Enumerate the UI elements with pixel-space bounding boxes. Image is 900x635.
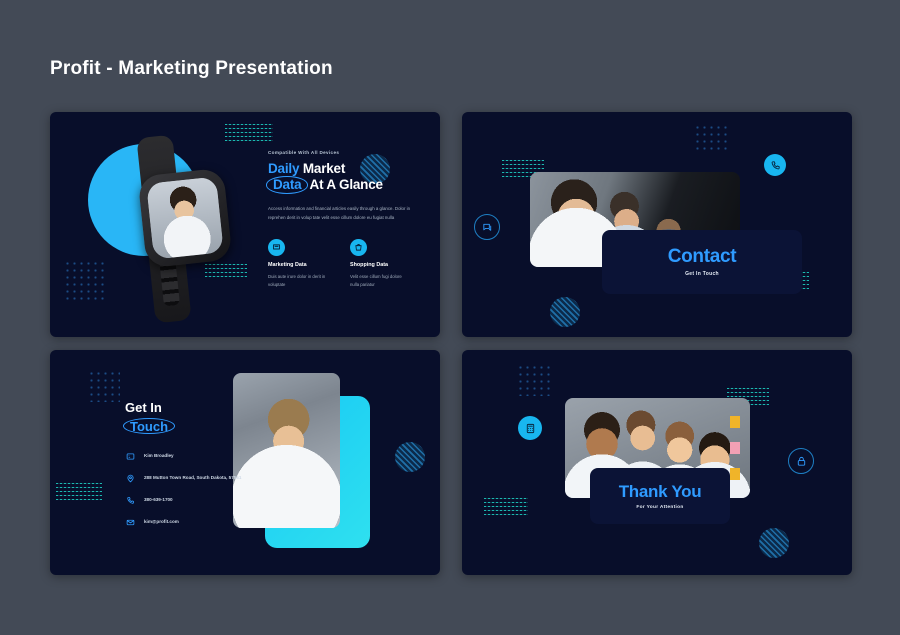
slide3-content: Get In Touch Kim Broadley (125, 400, 255, 539)
feature-marketing-data: Marketing Data Duis aute irure dolor in … (268, 239, 330, 290)
contact-title: Contact (668, 247, 737, 266)
thank-you-panel: Thank You For Your Attention (590, 468, 730, 524)
thank-you-title: Thank You (619, 483, 702, 500)
contact-title-panel: Contact Get In Touch (602, 230, 802, 294)
striped-circle-decoration (395, 442, 425, 472)
feature-desc: Duis aute irure dolor in derit in volupt… (268, 273, 330, 290)
feature-title: Marketing Data (268, 262, 330, 268)
contact-value: kim@profit.com (144, 517, 179, 526)
dot-grid-decoration (88, 370, 120, 402)
page-title: Profit - Marketing Presentation (50, 58, 333, 80)
headline-rest-market: Market (303, 161, 345, 176)
slide-get-in-touch[interactable]: Get In Touch Kim Broadley (50, 350, 440, 575)
cart-icon (268, 239, 285, 256)
striped-circle-decoration (759, 528, 789, 558)
chat-icon (482, 222, 493, 233)
contact-value: 288 Mutton Town Road, South Dakota, 5755… (144, 473, 241, 482)
slide1-body-text: Access information and financial article… (268, 205, 418, 223)
striped-circle-decoration (550, 297, 580, 327)
slide3-title-line1: Get In (125, 400, 255, 416)
slide-thank-you[interactable]: Thank You For Your Attention (462, 350, 852, 575)
contact-row-address: 288 Mutton Town Road, South Dakota, 5755… (125, 473, 255, 484)
feature-shopping-data: Shopping Data Velit esse cillum fugi dol… (350, 239, 412, 290)
headline-rest-glance: At A Glance (310, 177, 383, 192)
feature-title: Shopping Data (350, 262, 412, 268)
dot-grid-decoration (517, 364, 551, 396)
headline-circled-data: Data (268, 177, 306, 193)
sticky-note-decoration (730, 468, 740, 480)
lock-icon (796, 456, 807, 467)
wave-decoration (484, 498, 528, 518)
chat-badge[interactable] (474, 214, 500, 240)
phone-badge[interactable] (764, 154, 786, 176)
slide1-eyebrow: Compatible With All Devices (268, 150, 418, 155)
calculator-icon (525, 423, 536, 434)
dot-grid-decoration (694, 124, 730, 154)
contact-row-name: Kim Broadley (125, 451, 255, 462)
contact-row-phone: 380-639-1700 (125, 495, 255, 506)
contact-subtitle: Get In Touch (685, 271, 719, 277)
sticky-note-decoration (730, 416, 740, 428)
slide-contact-cover[interactable]: Contact Get In Touch (462, 112, 852, 337)
sticky-note-decoration (730, 442, 740, 454)
calculator-badge[interactable] (518, 416, 542, 440)
phone-icon (770, 160, 781, 171)
watch-case (137, 168, 232, 268)
email-icon (125, 517, 136, 528)
contact-row-email: kim@profit.com (125, 517, 255, 528)
feature-list: Marketing Data Duis aute irure dolor in … (268, 239, 418, 290)
slide3-title-line2: Touch (125, 418, 255, 436)
shopping-bag-icon (350, 239, 367, 256)
user-card-icon (125, 451, 136, 462)
slide1-headline: Daily Market Data At A Glance (268, 161, 418, 194)
wave-decoration (56, 483, 102, 503)
headline-highlight-daily: Daily (268, 161, 299, 176)
lock-badge[interactable] (788, 448, 814, 474)
slide-daily-market-data[interactable]: Compatible With All Devices Daily Market… (50, 112, 440, 337)
presentation-preview-page: Profit - Marketing Presentation Compatib… (0, 0, 900, 635)
smartwatch-image (102, 136, 237, 326)
title-circled-touch: Touch (125, 419, 173, 434)
contact-value: Kim Broadley (144, 451, 174, 460)
contact-info-list: Kim Broadley 288 Mutton Town Road, South… (125, 451, 255, 528)
contact-value: 380-639-1700 (144, 495, 173, 504)
thank-you-subtitle: For Your Attention (636, 505, 683, 510)
location-pin-icon (125, 473, 136, 484)
phone-icon (125, 495, 136, 506)
feature-desc: Velit esse cillum fugi dolore nulla pari… (350, 273, 412, 290)
watch-screen (146, 177, 224, 260)
person-photo (146, 177, 224, 260)
slide1-content: Compatible With All Devices Daily Market… (268, 150, 418, 289)
